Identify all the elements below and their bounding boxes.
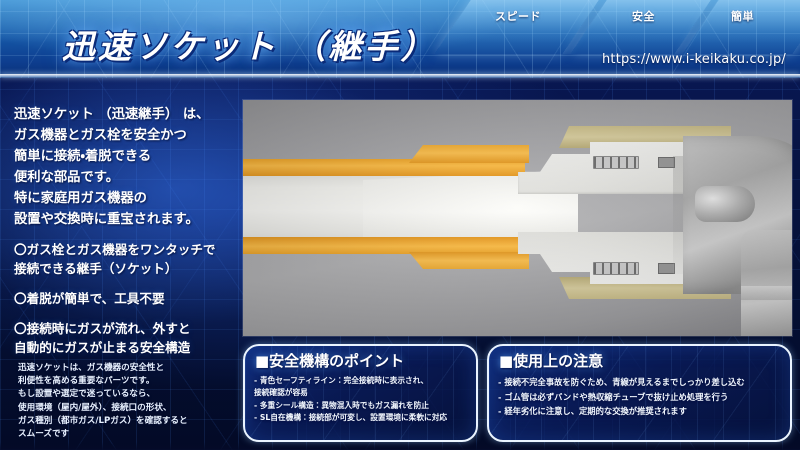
caution-box-line-3: - 経年劣化に注意し、定期的な交換が推奨されます <box>498 404 784 419</box>
usage-caution-box: ■使用上の注意 - 接続不完全事故を防ぐため、青線が見えるまでしっかり差し込む … <box>487 344 792 442</box>
feature-bullet-3: 〇接続時にガスが流れ、外すと 自動的にガスが止まる安全構造 <box>14 320 240 358</box>
slide-root: スピード 安全 簡単 迅速ソケット （継手） https://www.i-kei… <box>0 0 800 450</box>
product-cutaway-image <box>243 100 792 336</box>
intro-paragraph: 迅速ソケット （迅速継手） は、 ガス機器とガス栓を安全かつ 簡単に接続・着脱で… <box>14 104 240 230</box>
site-url-link[interactable]: https://www.i-keikaku.co.jp/ <box>602 52 786 67</box>
caution-box-line-2: - ゴム管は必ずバンドや熱収縮チューブで抜け止め処理を行う <box>498 390 784 405</box>
footnote-text: 迅速ソケットは、ガス機器の安全性と 利便性を高める重要なパーツです。 もし設置や… <box>18 362 233 441</box>
safety-points-box: ■安全機構のポイント - 青色セーフティライン：完全接続時に表示され、 接続確認… <box>243 344 478 442</box>
product-panel-vignette <box>243 100 792 336</box>
feature-bullet-1: 〇ガス栓とガス機器をワンタッチで 接続できる継手（ソケット） <box>14 241 240 279</box>
caution-box-list: - 接続不完全事故を防ぐため、青線が見えるまでしっかり差し込む - ゴム管は必ず… <box>489 371 790 419</box>
caution-box-title: ■使用上の注意 <box>489 346 790 371</box>
feature-bullet-list: 〇ガス栓とガス機器をワンタッチで 接続できる継手（ソケット） 〇着脱が簡単で、工… <box>14 241 240 357</box>
safety-box-line-1: - 青色セーフティライン：完全接続時に表示され、 接続確認が容易 <box>254 375 470 400</box>
safety-box-line-3: - SL自在機構：接続部が可変し、設置環境に柔軟に対応 <box>254 412 470 424</box>
feature-bullet-2: 〇着脱が簡単で、工具不要 <box>14 290 240 309</box>
safety-box-list: - 青色セーフティライン：完全接続時に表示され、 接続確認が容易 - 多重シール… <box>245 371 476 425</box>
bottom-edge-shadow <box>0 442 800 450</box>
header-ribbon-label-safety: 安全 <box>632 8 655 24</box>
header-divider <box>0 74 800 77</box>
safety-box-title: ■安全機構のポイント <box>245 346 476 371</box>
caution-box-line-1: - 接続不完全事故を防ぐため、青線が見えるまでしっかり差し込む <box>498 375 784 390</box>
header-ribbon-label-easy: 簡単 <box>731 8 754 24</box>
page-title: 迅速ソケット （継手） <box>62 20 437 68</box>
header-ribbon-label-speed: スピード <box>495 8 541 24</box>
safety-box-line-2: - 多重シール構造：異物混入時でもガス漏れを防止 <box>254 400 470 412</box>
left-text-column: 迅速ソケット （迅速継手） は、 ガス機器とガス栓を安全かつ 簡単に接続・着脱で… <box>14 104 240 368</box>
